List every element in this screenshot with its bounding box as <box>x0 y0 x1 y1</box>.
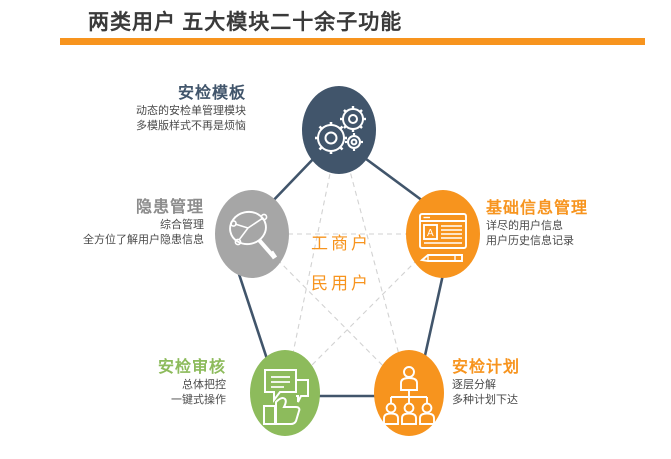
node-circle-template[interactable] <box>302 86 376 174</box>
label-template-heading: 安检模板 <box>24 84 246 104</box>
org-chart-people-icon <box>374 350 444 436</box>
node-circle-audit[interactable] <box>250 350 320 436</box>
label-basic-info-sub1: 详尽的用户信息 <box>486 219 671 234</box>
label-plan-sub2: 多种计划下达 <box>452 393 662 408</box>
node-circle-basic-info[interactable]: A <box>406 190 480 278</box>
magnifier-icon <box>215 190 289 278</box>
label-basic-info: 基础信息管理 详尽的用户信息 用户历史信息记录 <box>486 199 671 249</box>
gears-icon <box>302 86 376 174</box>
label-hazard: 隐患管理 综合管理 全方位了解用户隐患信息 <box>6 198 204 248</box>
document-pencil-icon: A <box>406 190 480 278</box>
node-circle-hazard[interactable] <box>215 190 289 278</box>
label-audit-sub2: 一键式操作 <box>22 393 226 408</box>
label-template: 安检模板 动态的安检单管理模块 多模版样式不再是烦恼 <box>24 84 246 134</box>
svg-text:A: A <box>427 228 434 239</box>
label-hazard-heading: 隐患管理 <box>6 198 204 218</box>
label-basic-info-heading: 基础信息管理 <box>486 199 671 219</box>
label-audit: 安检审核 总体把控 一键式操作 <box>22 358 226 408</box>
label-plan-heading: 安检计划 <box>452 358 662 378</box>
center-line-2: 民用户 <box>286 264 396 304</box>
label-hazard-sub1: 综合管理 <box>6 218 204 233</box>
label-template-sub1: 动态的安检单管理模块 <box>24 104 246 119</box>
pentagon-diagram: A <box>0 52 671 459</box>
label-template-sub2: 多模版样式不再是烦恼 <box>24 119 246 134</box>
label-plan: 安检计划 逐层分解 多种计划下达 <box>452 358 662 408</box>
label-plan-sub1: 逐层分解 <box>452 378 662 393</box>
center-user-types: 工商户 民用户 <box>286 224 396 304</box>
node-circle-plan[interactable] <box>374 350 444 436</box>
speech-thumb-icon <box>250 350 320 436</box>
label-basic-info-sub2: 用户历史信息记录 <box>486 234 671 249</box>
label-hazard-sub2: 全方位了解用户隐患信息 <box>6 233 204 248</box>
title-divider-rule <box>60 38 645 45</box>
label-audit-heading: 安检审核 <box>22 358 226 378</box>
center-line-1: 工商户 <box>286 224 396 264</box>
label-audit-sub1: 总体把控 <box>22 378 226 393</box>
page-title: 两类用户 五大模块二十余子功能 <box>88 6 402 36</box>
